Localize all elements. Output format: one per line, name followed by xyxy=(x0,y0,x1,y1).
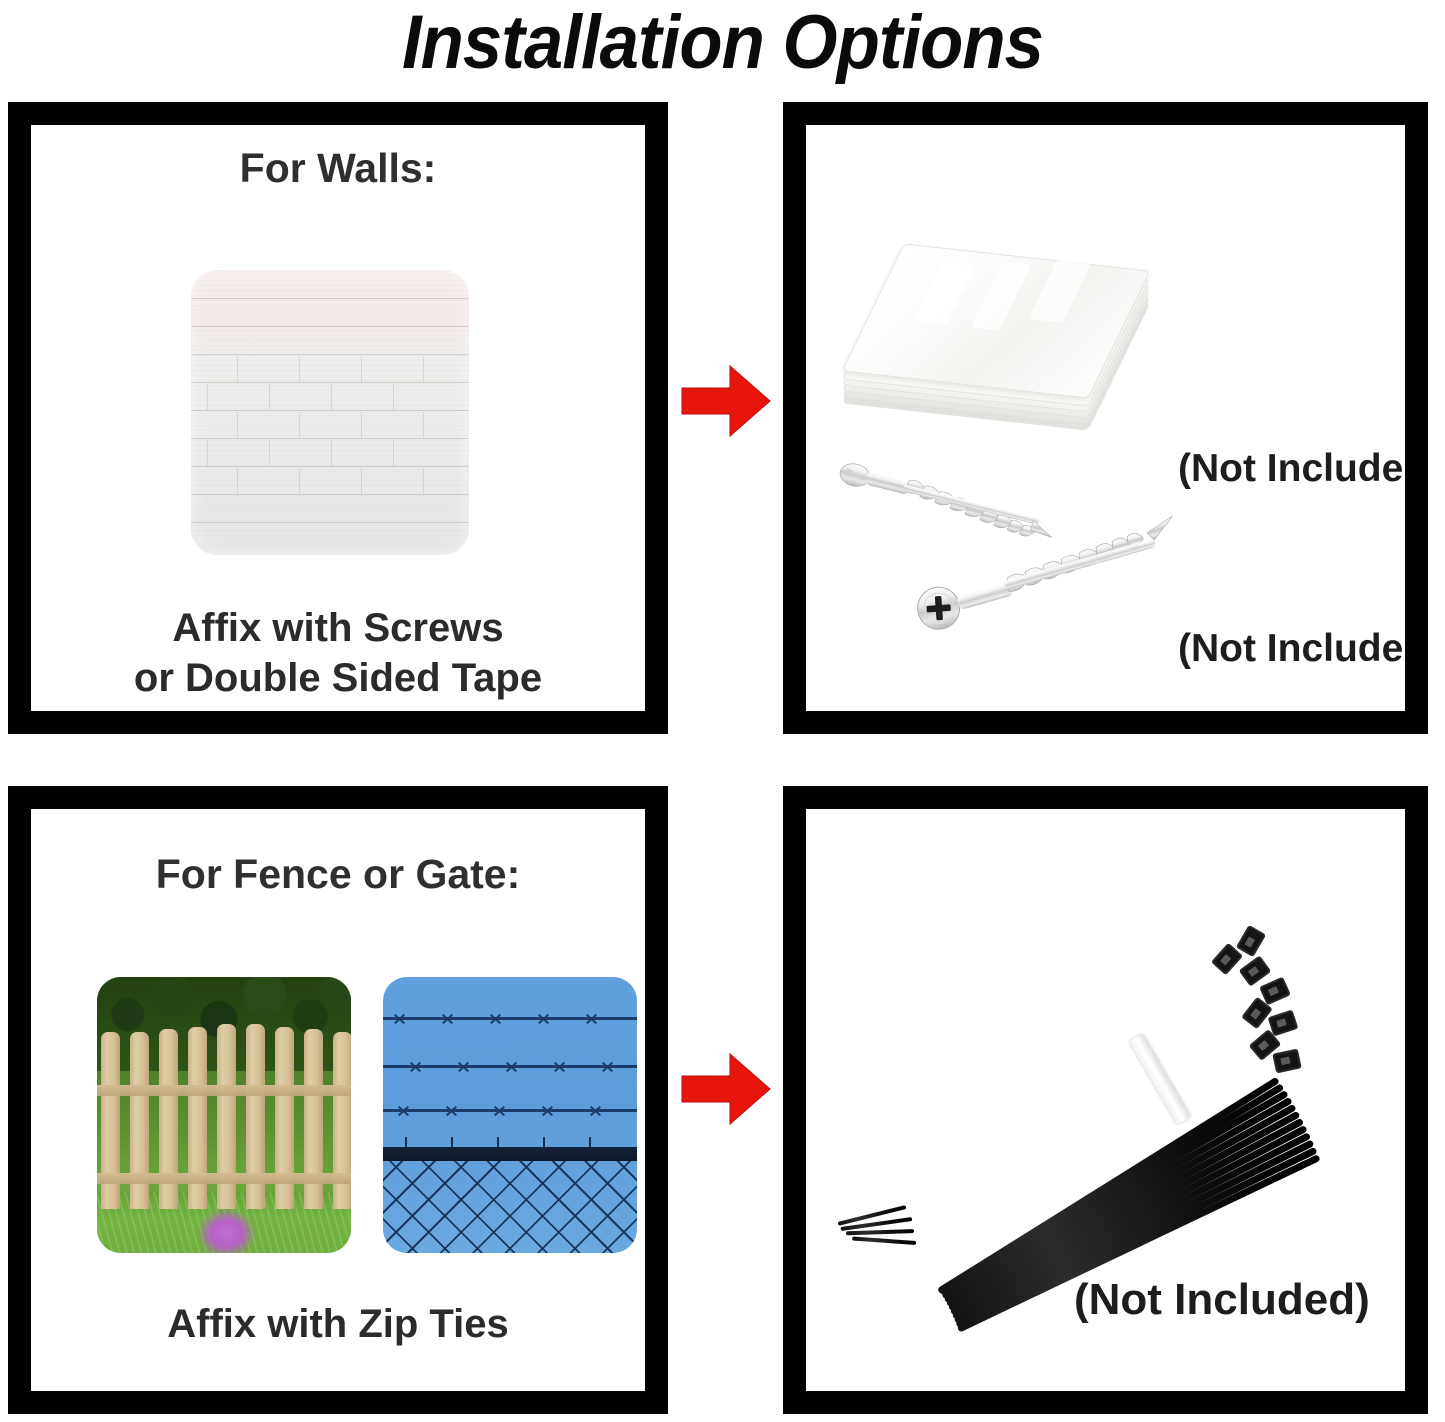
panel-fence-hardware: (Not Included) xyxy=(783,786,1428,1414)
panel-fence-hardware-content: (Not Included) xyxy=(806,809,1405,1391)
panel-for-walls: For Walls: xyxy=(8,102,668,734)
chain-link-barbed-wire-fence-photo xyxy=(383,977,637,1253)
wall-texture-grain xyxy=(191,270,469,555)
double-sided-tape-stack-image xyxy=(866,233,1166,423)
zip-tie-band xyxy=(1129,1033,1191,1124)
for-walls-caption-line1: Affix with Screws xyxy=(31,603,645,653)
white-brick-wall-swatch-image xyxy=(191,270,469,555)
for-walls-caption-line2: or Double Sided Tape xyxy=(31,653,645,703)
page-title: Installation Options xyxy=(51,0,1395,88)
right-arrow-icon-bottom xyxy=(680,1050,772,1128)
purple-flower-patch xyxy=(199,1210,255,1253)
for-walls-caption: Affix with Screws or Double Sided Tape xyxy=(31,603,645,703)
screws-not-included-note: (Not Included) xyxy=(1178,627,1405,671)
zip-ties-not-included-note: (Not Included) xyxy=(1074,1275,1370,1325)
panel-walls-hardware-content: (Not Included) xyxy=(806,125,1405,711)
screw-upper xyxy=(836,461,1058,543)
screw-lower xyxy=(912,516,1185,634)
for-fence-or-gate-caption: Affix with Zip Ties xyxy=(31,1299,645,1349)
for-fence-or-gate-heading: For Fence or Gate: xyxy=(31,851,645,898)
wooden-picket-fence-photo xyxy=(97,977,351,1253)
black-zip-ties-bundle-image xyxy=(846,905,1316,1315)
panel-walls-hardware: (Not Included) xyxy=(783,102,1428,734)
panel-for-fence-or-gate-content: For Fence or Gate: xyxy=(31,809,645,1391)
panel-for-walls-content: For Walls: xyxy=(31,125,645,711)
for-walls-heading: For Walls: xyxy=(31,145,645,192)
panel-for-fence-or-gate: For Fence or Gate: xyxy=(8,786,668,1414)
right-arrow-icon-top xyxy=(680,362,772,440)
